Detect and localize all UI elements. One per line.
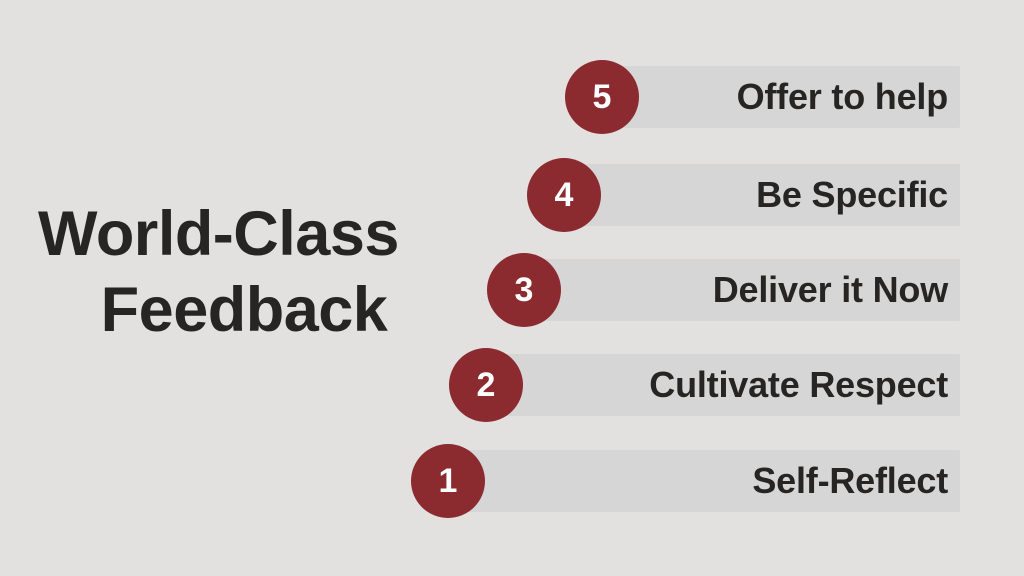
step-item-1[interactable]: Self-Reflect 1	[448, 450, 960, 512]
step-number-badge-2: 2	[449, 348, 523, 422]
step-label-5: Offer to help	[737, 66, 948, 128]
step-number-badge-1: 1	[411, 444, 485, 518]
step-item-4[interactable]: Be Specific 4	[564, 164, 960, 226]
step-number-badge-5: 5	[565, 60, 639, 134]
step-label-2: Cultivate Respect	[649, 354, 948, 416]
step-label-4: Be Specific	[756, 164, 948, 226]
step-label-1: Self-Reflect	[752, 450, 948, 512]
steps-list: Offer to help 5 Be Specific 4 Deliver it…	[0, 0, 1024, 576]
step-number-badge-3: 3	[487, 253, 561, 327]
step-number-badge-4: 4	[527, 158, 601, 232]
step-item-5[interactable]: Offer to help 5	[602, 66, 960, 128]
slide-canvas: World-Class Feedback Offer to help 5 Be …	[0, 0, 1024, 576]
step-item-2[interactable]: Cultivate Respect 2	[486, 354, 960, 416]
step-item-3[interactable]: Deliver it Now 3	[524, 259, 960, 321]
step-label-3: Deliver it Now	[713, 259, 948, 321]
